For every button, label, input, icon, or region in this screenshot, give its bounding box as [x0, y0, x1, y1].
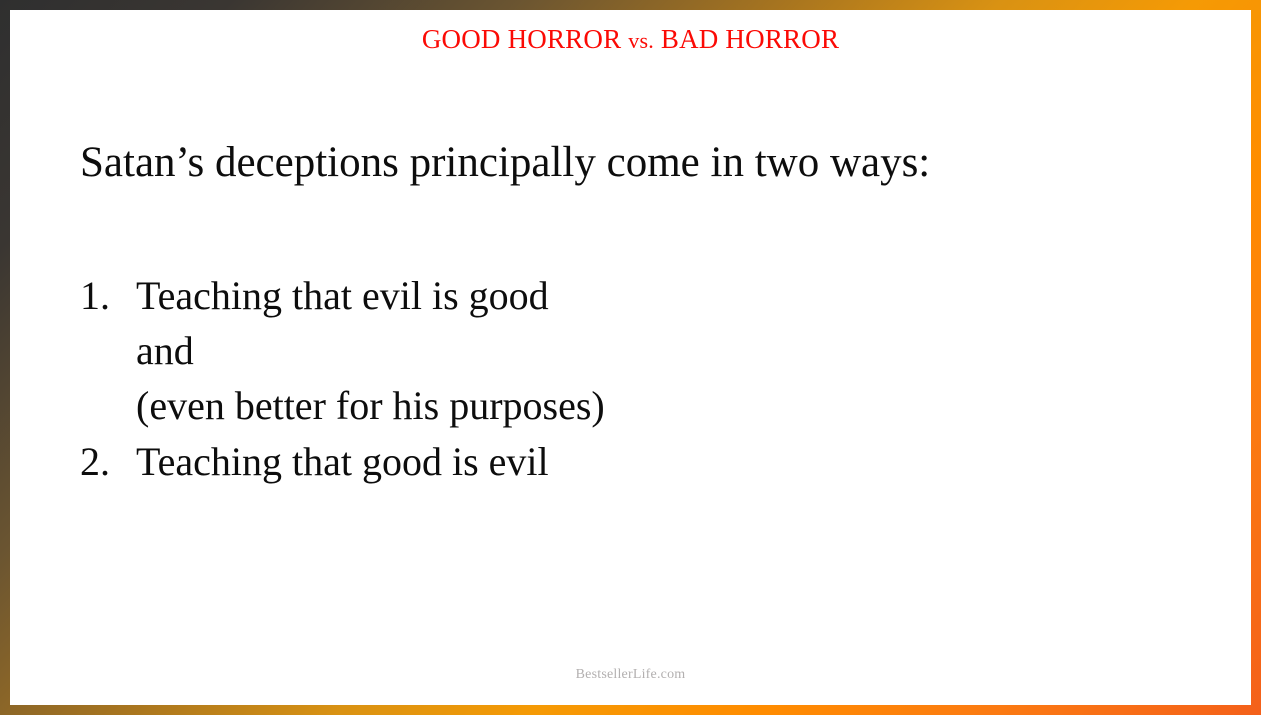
list-item-marker: 1. [80, 268, 136, 323]
title-part-vs: vs. [628, 28, 654, 53]
list-subline-and: and [136, 323, 1209, 378]
list-item-marker: 2. [80, 434, 136, 489]
slide-page: GOOD HORROR vs. BAD HORROR Satan’s decep… [10, 10, 1251, 705]
title-part-good-horror: GOOD HORROR [422, 24, 621, 54]
list-item-label: Teaching that good is evil [136, 434, 1209, 489]
footer-watermark: BestsellerLife.com [12, 667, 1249, 683]
slide-frame: GOOD HORROR vs. BAD HORROR Satan’s decep… [0, 0, 1261, 715]
list-item-label: Teaching that evil is good [136, 268, 1209, 323]
list-item: 1. Teaching that evil is good [80, 268, 1209, 323]
deception-list: 1. Teaching that evil is good and (even … [80, 268, 1209, 489]
list-subline-parenthetical: (even better for his purposes) [136, 378, 1209, 433]
lead-statement: Satan’s deceptions principally come in t… [80, 138, 930, 188]
title-part-bad-horror: BAD HORROR [661, 24, 839, 54]
page-title: GOOD HORROR vs. BAD HORROR [12, 24, 1249, 55]
list-item: 2. Teaching that good is evil [80, 434, 1209, 489]
